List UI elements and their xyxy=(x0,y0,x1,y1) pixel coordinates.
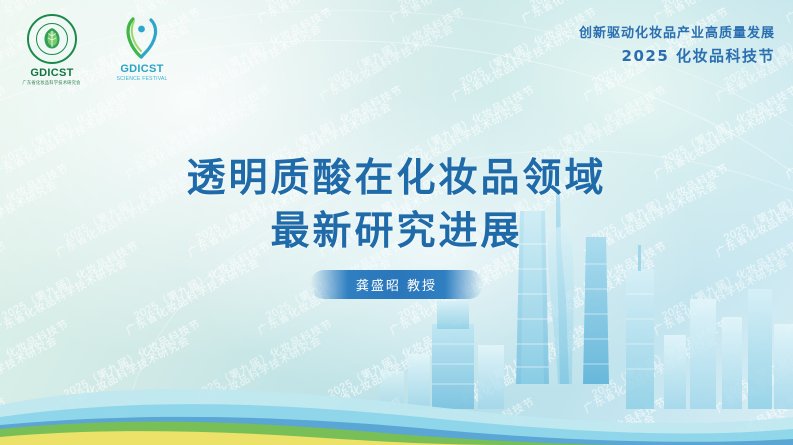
watermark-text: 广东省化妆品科学技术研究会 xyxy=(784,0,793,27)
watermark-text: 广东省化妆品科学技术研究会 xyxy=(520,413,658,445)
logo-name-gdicst: GDICST xyxy=(30,67,73,79)
watermark-text: 2025（第九届）化妆品科技节 xyxy=(326,318,468,402)
watermark-text: 广东省化妆品科学技术研究会 xyxy=(0,413,130,445)
event-name: 2025 化妆品科技节 xyxy=(579,45,775,66)
watermark-text: 广东省化妆品科学技术研究会 xyxy=(450,335,588,417)
watermark-text: 广东省化妆品科学技术研究会 xyxy=(0,335,60,417)
watermark-text: 广东省化妆品科学技术研究会 xyxy=(256,0,394,27)
leaf-flask-emblem-icon xyxy=(27,14,77,64)
watermark-text: 2025（第九届）化妆品科技节 xyxy=(132,396,274,445)
watermark-text: 2025（第九届）化妆品科技节 xyxy=(62,318,204,402)
watermark-text: 2025（第九届）化妆品科技节 xyxy=(528,0,670,12)
watermark-text: 2025（第九届）化妆品科技节 xyxy=(660,0,793,12)
logo-name-science-festival: GDICST xyxy=(120,63,163,75)
watermark-text: 2025（第九届）化妆品科技节 xyxy=(0,318,72,402)
watermark-text: 2025（第九届）化妆品科技节 xyxy=(458,318,600,402)
watermark-text: 广东省化妆品科学技术研究会 xyxy=(318,23,456,105)
page-title: 透明质酸在化妆品领域 最新研究进展 xyxy=(0,152,793,257)
presentation-slide: 2025（第九届）化妆品科技节广东省化妆品科学技术研究会2025（第九届）化妆品… xyxy=(0,0,793,445)
speaker-name: 龚盛昭 教授 xyxy=(310,270,483,299)
bottom-wave-decoration xyxy=(0,359,793,445)
watermark-text: 2025（第九届）化妆品科技节 xyxy=(0,0,142,12)
watermark-text: 2025（第九届）化妆品科技节 xyxy=(722,318,793,402)
watermark-text: 广东省化妆品科学技术研究会 xyxy=(784,413,793,445)
watermark-text: 2025（第九届）化妆品科技节 xyxy=(0,396,10,445)
watermark-text: 2025（第九届）化妆品科技节 xyxy=(396,0,538,12)
event-header: 创新驱动化妆品产业高质量发展 2025 化妆品科技节 xyxy=(579,22,775,66)
watermark-text: 广东省化妆品科学技术研究会 xyxy=(714,335,793,417)
watermark-text: 广东省化妆品科学技术研究会 xyxy=(652,413,790,445)
watermark-text: 2025（第九届）化妆品科技节 xyxy=(660,396,793,445)
watermark-text: 广东省化妆品科学技术研究会 xyxy=(388,0,526,27)
watermark-text: 2025（第九届）化妆品科技节 xyxy=(194,318,336,402)
ribbon-figure-emblem-icon xyxy=(119,14,165,60)
logo-sub-science-festival: SCIENCE FESTIVAL xyxy=(116,76,167,82)
title-line-1: 透明质酸在化妆品领域 xyxy=(0,152,793,205)
watermark-text: 2025（第九届）化妆品科技节 xyxy=(264,0,406,12)
watermark-text: 2025（第九届）化妆品科技节 xyxy=(0,396,142,445)
logo-sub-gdicst: 广东省化妆品科学技术研究会 xyxy=(23,80,81,86)
watermark-text: 广东省化妆品科学技术研究会 xyxy=(450,23,588,105)
title-line-2: 最新研究进展 xyxy=(0,205,793,258)
logo-gdicst-green: GDICST 广东省化妆品科学技术研究会 xyxy=(14,14,90,86)
watermark-text: 广东省化妆品科学技术研究会 xyxy=(186,23,324,105)
watermark-text: 广东省化妆品科学技术研究会 xyxy=(582,335,720,417)
watermark-text: 广东省化妆品科学技术研究会 xyxy=(124,413,262,445)
watermark-text: 广东省化妆品科学技术研究会 xyxy=(54,335,192,417)
watermark-text: 2025（第九届）化妆品科技节 xyxy=(590,318,732,402)
logo-group: GDICST 广东省化妆品科学技术研究会 GDICST SCIENCE FEST… xyxy=(14,14,180,86)
watermark-text: 2025（第九届）化妆品科技节 xyxy=(264,396,406,445)
watermark-text: 广东省化妆品科学技术研究会 xyxy=(256,413,394,445)
logo-gdicst-science-festival: GDICST SCIENCE FESTIVAL xyxy=(104,14,180,82)
watermark-text: 2025（第九届）化妆品科技节 xyxy=(326,6,468,90)
watermark-text: 2025（第九届）化妆品科技节 xyxy=(0,0,10,12)
watermark-text: 广东省化妆品科学技术研究会 xyxy=(186,335,324,417)
watermark-text: 广东省化妆品科学技术研究会 xyxy=(318,335,456,417)
watermark-text: 广东省化妆品科学技术研究会 xyxy=(388,413,526,445)
speaker-badge: 龚盛昭 教授 xyxy=(0,270,793,299)
watermark-text: 2025（第九届）化妆品科技节 xyxy=(132,0,274,12)
watermark-text: 2025（第九届）化妆品科技节 xyxy=(194,6,336,90)
event-slogan: 创新驱动化妆品产业高质量发展 xyxy=(579,22,775,41)
watermark-text: 2025（第九届）化妆品科技节 xyxy=(528,396,670,445)
watermark-text: 2025（第九届）化妆品科技节 xyxy=(396,396,538,445)
